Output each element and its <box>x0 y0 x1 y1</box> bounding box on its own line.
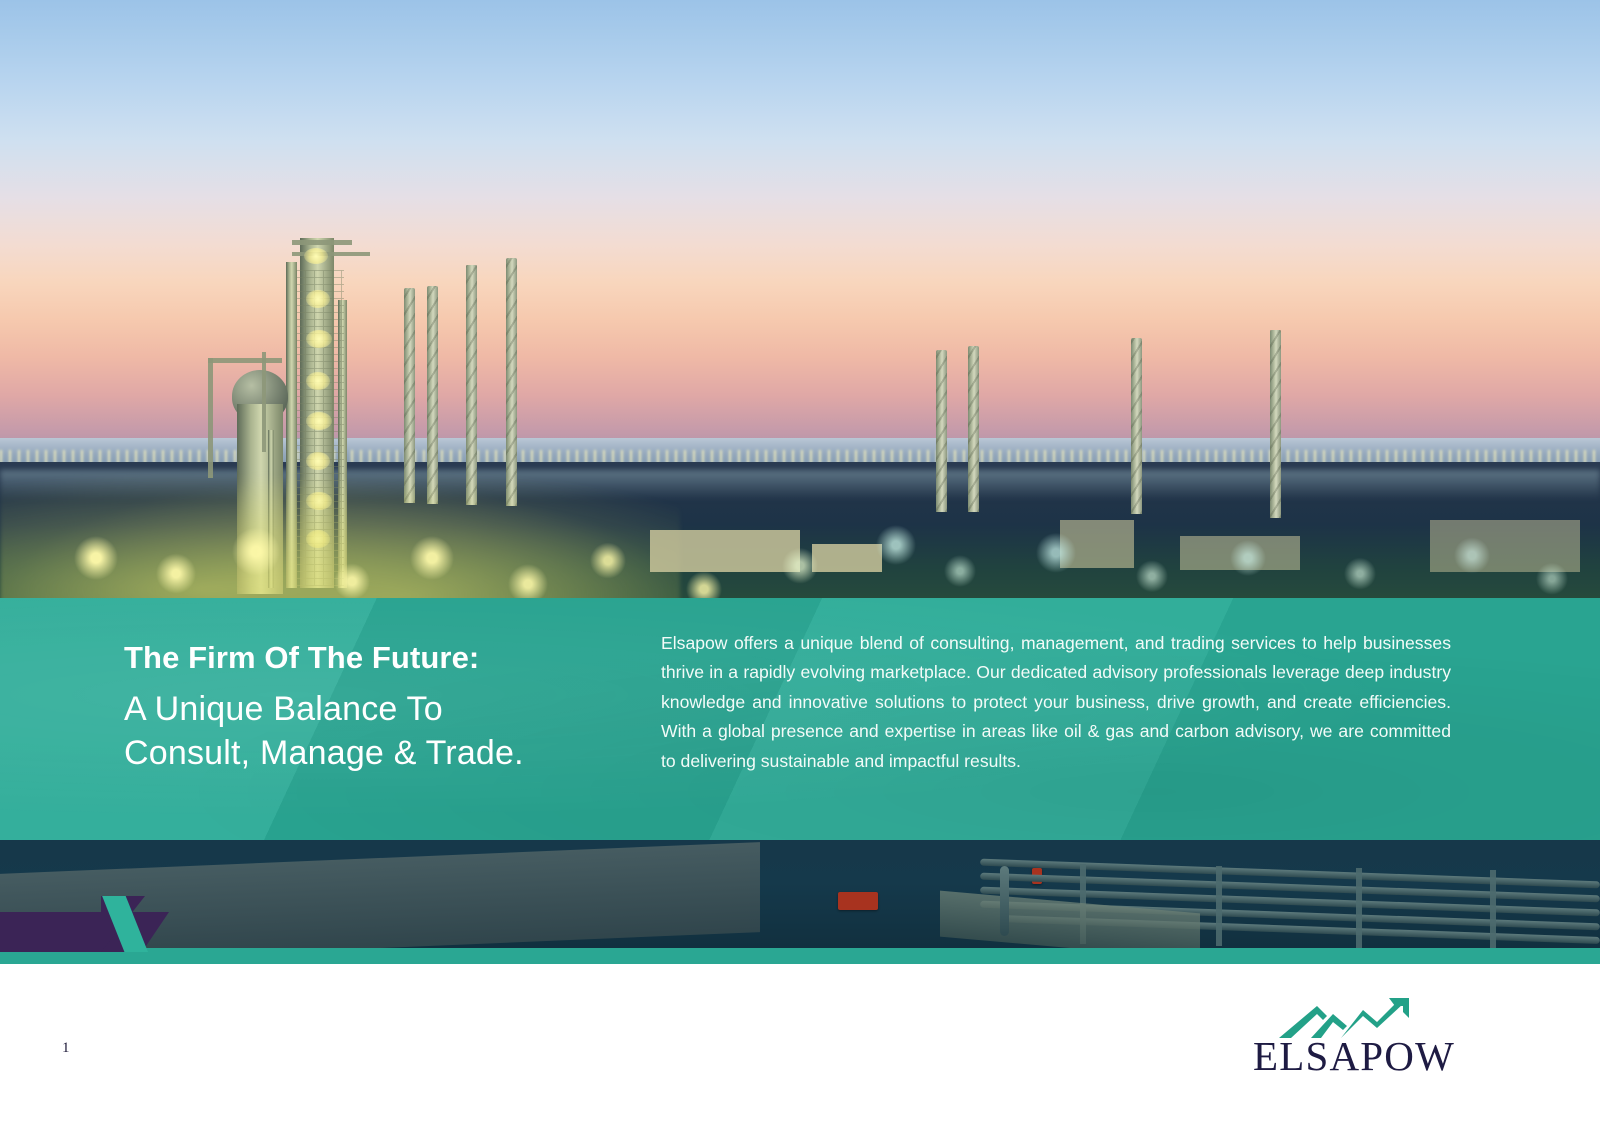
red-equipment-box <box>838 892 878 910</box>
teal-content-band: The Firm Of The Future: A Unique Balance… <box>0 598 1600 840</box>
pipe-rack-beam <box>1490 870 1496 948</box>
chimney-stack <box>506 258 517 506</box>
chimney-stack <box>466 265 477 505</box>
headline-line-2: A Unique Balance To <box>124 687 644 731</box>
headline-line-1: The Firm Of The Future: <box>124 637 644 679</box>
gantry-riser <box>262 352 266 452</box>
logo-wordmark: ELSAPOW <box>1253 1032 1453 1080</box>
tower-light <box>306 372 330 390</box>
headline-block: The Firm Of The Future: A Unique Balance… <box>124 637 644 775</box>
elsapow-logo: ELSAPOW <box>1253 996 1453 1096</box>
elbow-pipe <box>1000 866 1009 936</box>
gantry-pipe <box>208 358 282 363</box>
page-number: 1 <box>62 1040 70 1057</box>
plant-lights <box>0 480 1600 610</box>
tower-light <box>306 452 330 470</box>
corner-chevron-decoration <box>0 896 200 952</box>
slide-canvas: The Firm Of The Future: A Unique Balance… <box>0 0 1600 1132</box>
pipe-rack-beam <box>1216 866 1222 946</box>
pipe-rack-beam <box>1356 868 1362 948</box>
tower-light <box>306 290 330 308</box>
tower-crossover-pipe <box>292 240 352 245</box>
tower-light <box>306 330 332 348</box>
bottom-teal-bar <box>0 948 1600 964</box>
headline-line-3: Consult, Manage & Trade. <box>124 731 644 775</box>
lower-pipeline-photo <box>0 840 1600 948</box>
tower-light <box>306 412 332 430</box>
gantry-riser <box>208 358 213 478</box>
tower-light <box>304 248 328 264</box>
body-paragraph: Elsapow offers a unique blend of consult… <box>661 629 1451 776</box>
